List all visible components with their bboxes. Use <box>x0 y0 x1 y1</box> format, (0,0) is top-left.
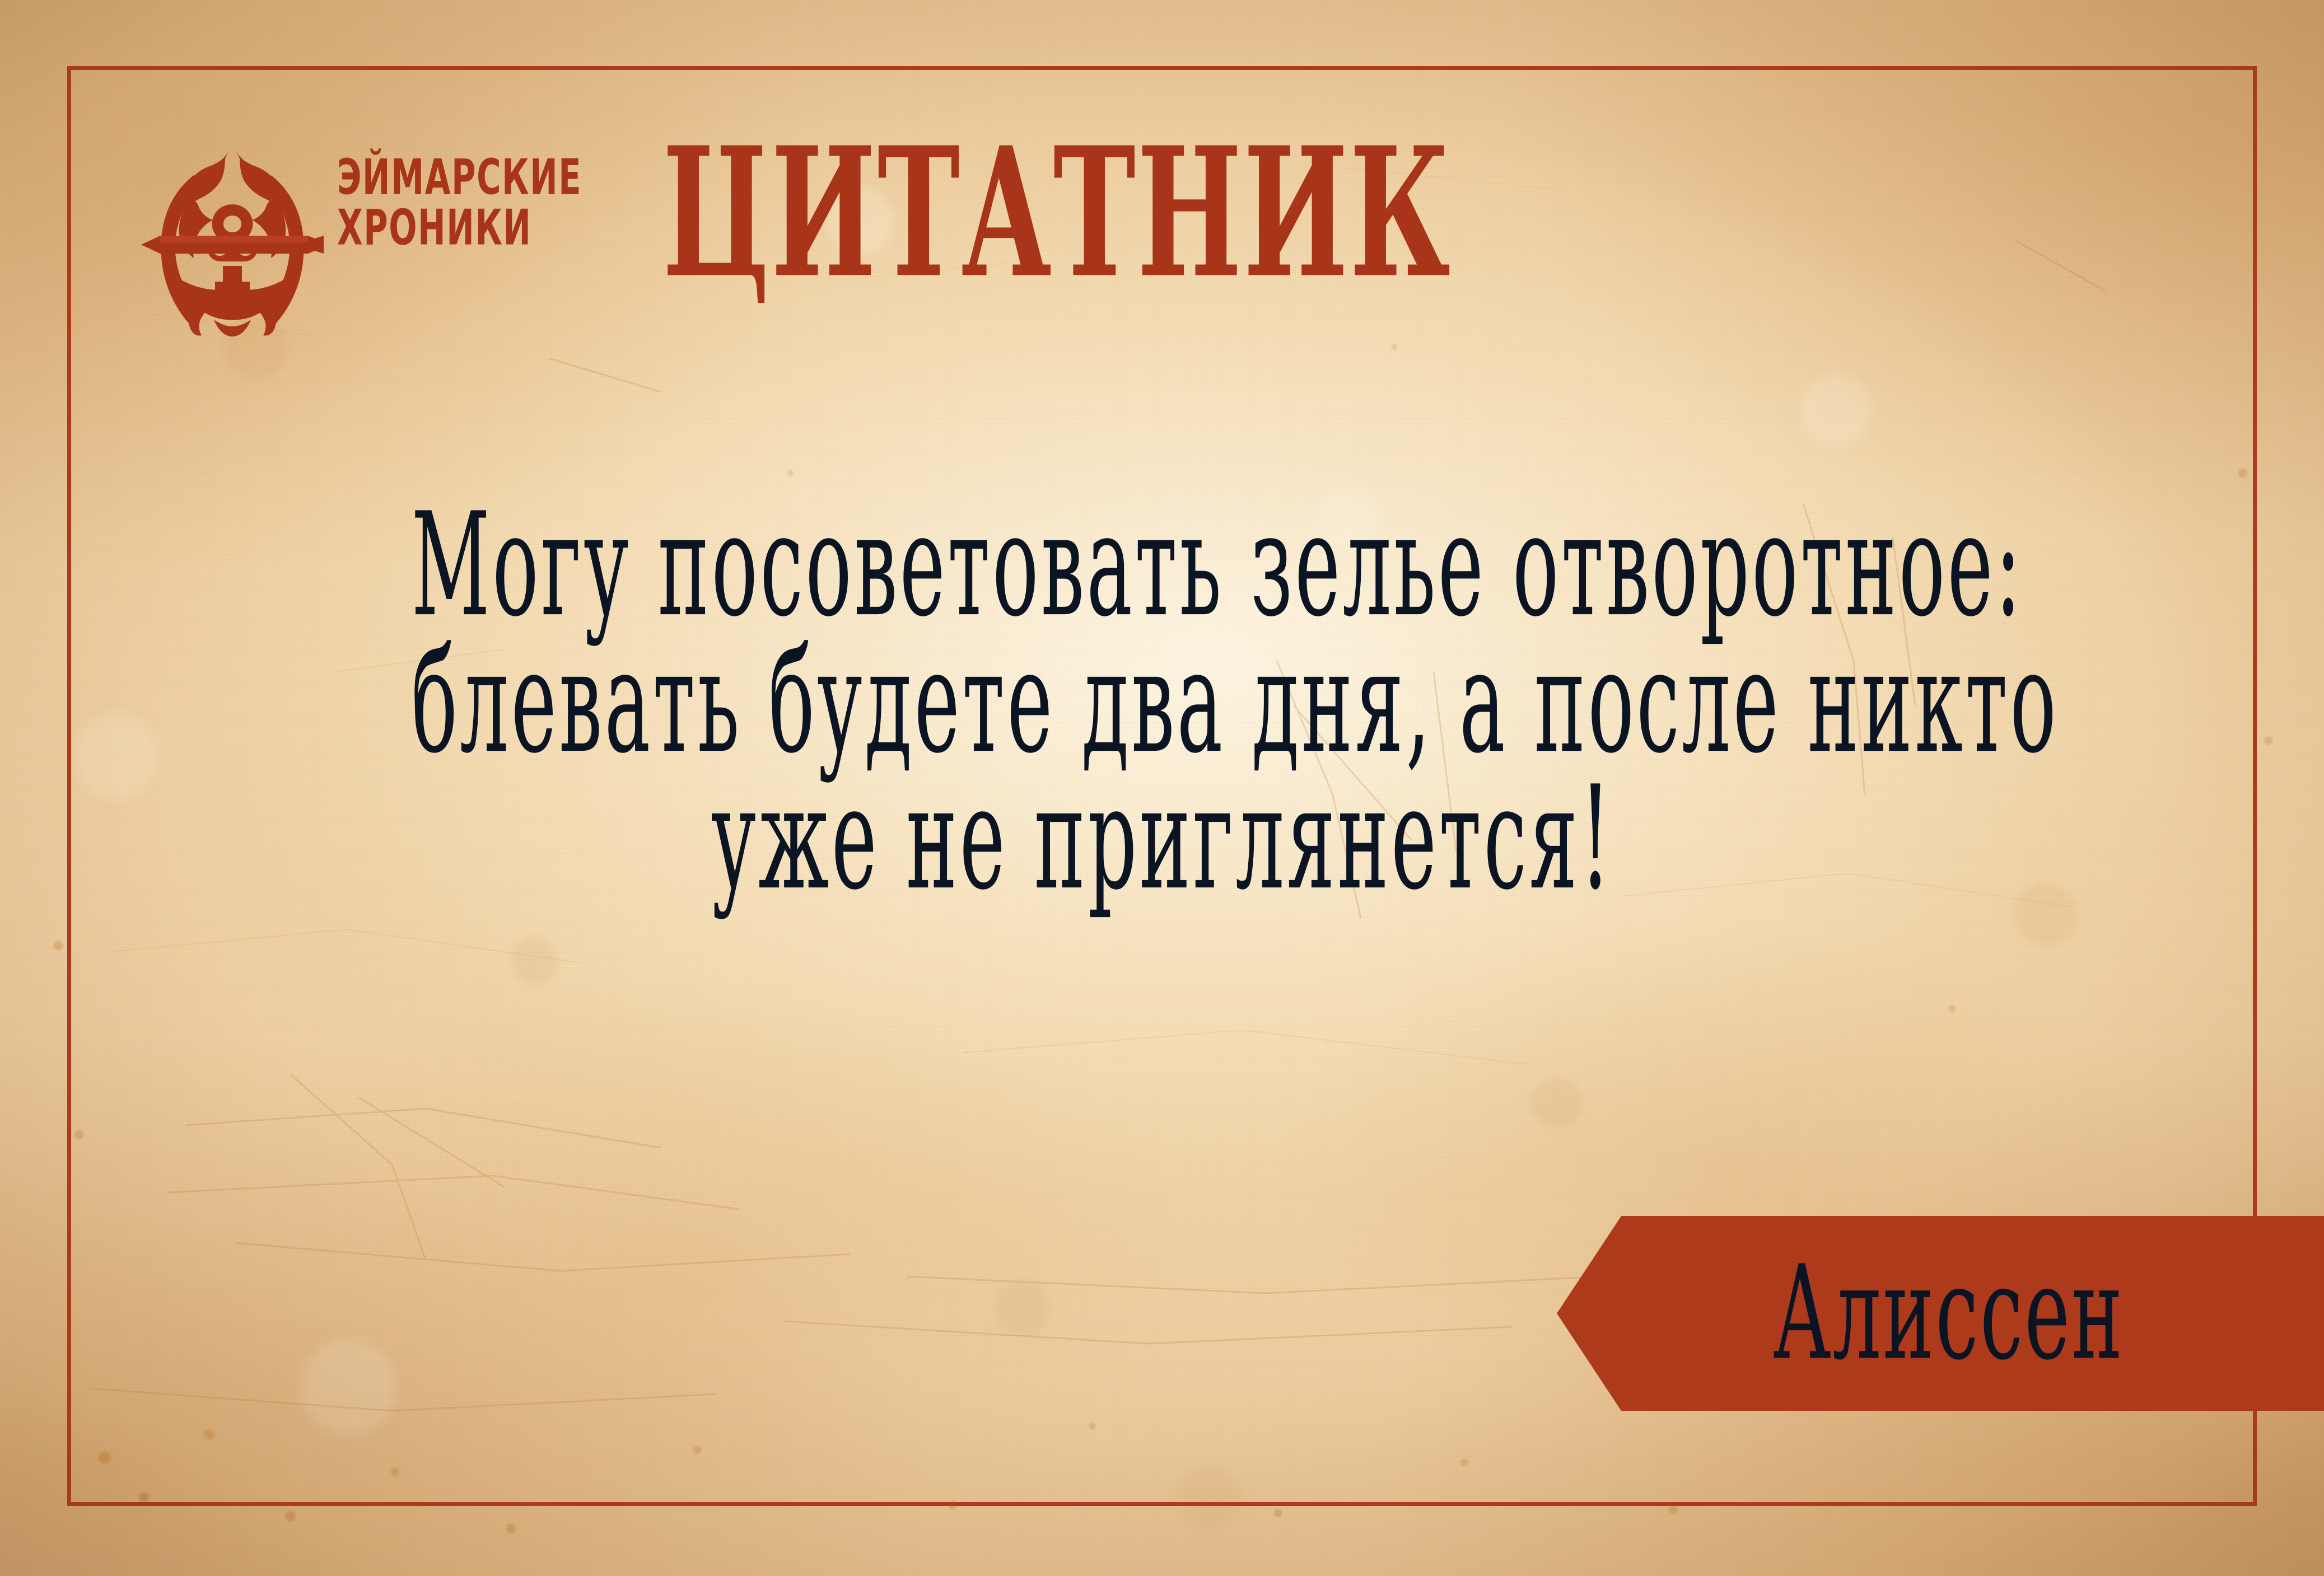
page-title: ЦИТАТНИК <box>662 124 1452 302</box>
quote-line-2: блевать будете два дня, а после никто <box>412 629 1913 776</box>
quote-line-3: уже не приглянется! <box>412 766 1913 913</box>
author-name: Алиссен <box>1773 1248 2124 1378</box>
brand-wordmark: ЭЙМАРСКИЕ ХРОНИКИ <box>337 158 643 247</box>
author-banner: Алиссен <box>1557 1216 2324 1411</box>
eymar-chronicles-emblem-icon <box>140 146 325 336</box>
quote-line-1: Могу посоветовать зелье отворотное: <box>412 493 1913 639</box>
card-header: ЭЙМАРСКИЕ ХРОНИКИ ЦИТАТНИК <box>140 143 1859 333</box>
quote-card: ЭЙМАРСКИЕ ХРОНИКИ ЦИТАТНИК Могу посовето… <box>0 0 2324 1576</box>
brand-line-2: ХРОНИКИ <box>337 205 582 250</box>
quote-block: Могу посоветовать зелье отворотное: блев… <box>90 493 2234 902</box>
brand-line-1: ЭЙМАРСКИЕ <box>337 155 582 200</box>
